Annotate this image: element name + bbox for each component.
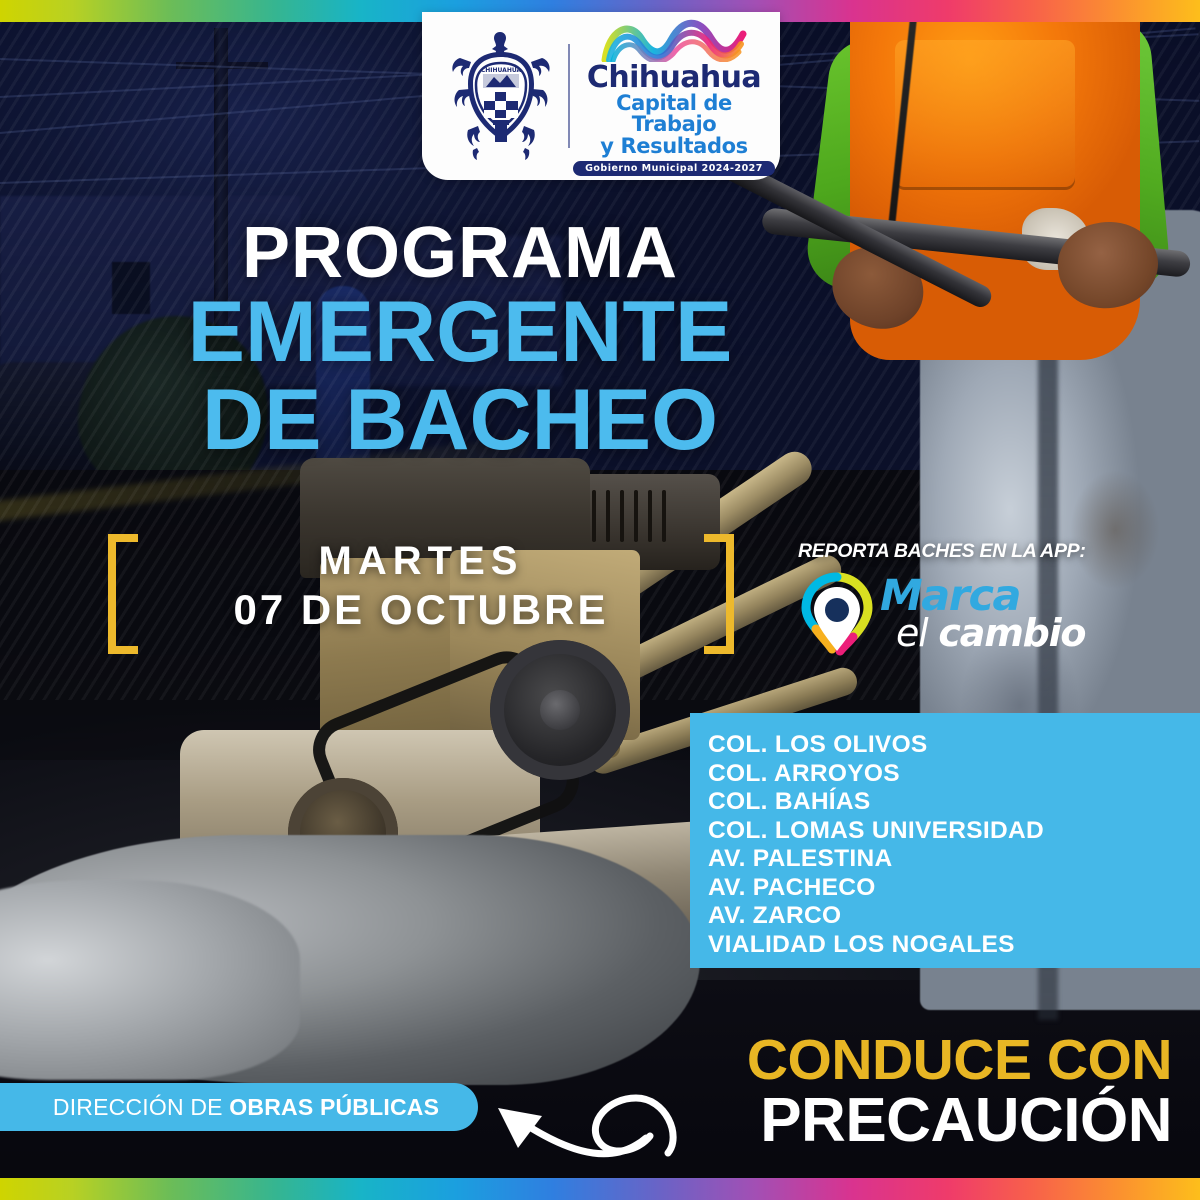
tagline-line-1: Capital de Trabajo (582, 93, 767, 136)
logo-card: CHIHUAHUA (422, 12, 780, 180)
date-weekday: MARTES (96, 538, 746, 585)
marca-el-cambio-wordmark: Marca el cambio (880, 579, 1085, 650)
brand-line-1: Marca (880, 579, 1085, 614)
logo-divider (568, 44, 570, 148)
list-item: AV. PACHECO (708, 874, 1200, 903)
worker-vest-pocket (895, 40, 1075, 190)
list-item: AV. ZARCO (708, 902, 1200, 931)
app-promo-label: REPORTA BACHES EN LA APP: (798, 540, 1128, 563)
cta-line-1: CONDUCE CON (747, 1032, 1172, 1089)
cta-line-2: PRECAUCIÓN (747, 1089, 1172, 1152)
list-item: VIALIDAD LOS NOGALES (708, 931, 1200, 960)
city-name: Chihuahua (587, 63, 761, 93)
date-block: MARTES 07 DE OCTUBRE (96, 534, 746, 654)
department-label: DIRECCIÓN DE OBRAS PÚBLICAS (17, 1094, 439, 1121)
app-promo-block: REPORTA BACHES EN LA APP: Marca el cambi… (798, 540, 1128, 657)
location-pin-icon (798, 571, 876, 657)
chihuahua-wave-icon (599, 16, 749, 62)
locations-list: COL. LOS OLIVOS COL. ARROYOS COL. BAHÍAS… (708, 731, 1200, 959)
date-day-month: 07 DE OCTUBRE (96, 585, 746, 635)
locations-panel: COL. LOS OLIVOS COL. ARROYOS COL. BAHÍAS… (690, 713, 1200, 968)
headline-block: PROGRAMA EMERGENTE DE BACHEO (0, 218, 920, 465)
poster-canvas: CHIHUAHUA (0, 0, 1200, 1200)
brand-line-2-bold: cambio (938, 611, 1085, 655)
headline-line-2: EMERGENTE (0, 289, 920, 377)
tagline-line-2: y Resultados (600, 136, 747, 157)
list-item: COL. LOS OLIVOS (708, 731, 1200, 760)
chihuahua-logo-block: Chihuahua Capital de Trabajo y Resultado… (582, 16, 767, 176)
cta-block: CONDUCE CON PRECAUCIÓN (747, 1032, 1172, 1152)
machine-pulley-large (490, 640, 630, 780)
government-period-badge: Gobierno Municipal 2024-2027 (573, 161, 775, 176)
brand-line-2: el cambio (896, 615, 1085, 651)
shield-coat-of-arms-icon: CHIHUAHUA (446, 30, 556, 162)
list-item: COL. LOMAS UNIVERSIDAD (708, 817, 1200, 846)
list-item: COL. BAHÍAS (708, 788, 1200, 817)
svg-text:CHIHUAHUA: CHIHUAHUA (480, 67, 521, 74)
headline-line-3: DE BACHEO (0, 377, 920, 465)
fresh-asphalt-patch-highlight (0, 880, 300, 1080)
hand-drawn-arrow-icon (468, 1078, 688, 1188)
list-item: AV. PALESTINA (708, 845, 1200, 874)
list-item: COL. ARROYOS (708, 760, 1200, 789)
department-prefix: DIRECCIÓN DE (35, 1094, 229, 1120)
department-pill: DIRECCIÓN DE OBRAS PÚBLICAS (0, 1083, 478, 1131)
brand-line-2-thin: el (896, 611, 938, 655)
headline-line-1: PROGRAMA (0, 218, 920, 289)
department-bold: OBRAS PÚBLICAS (229, 1094, 439, 1120)
